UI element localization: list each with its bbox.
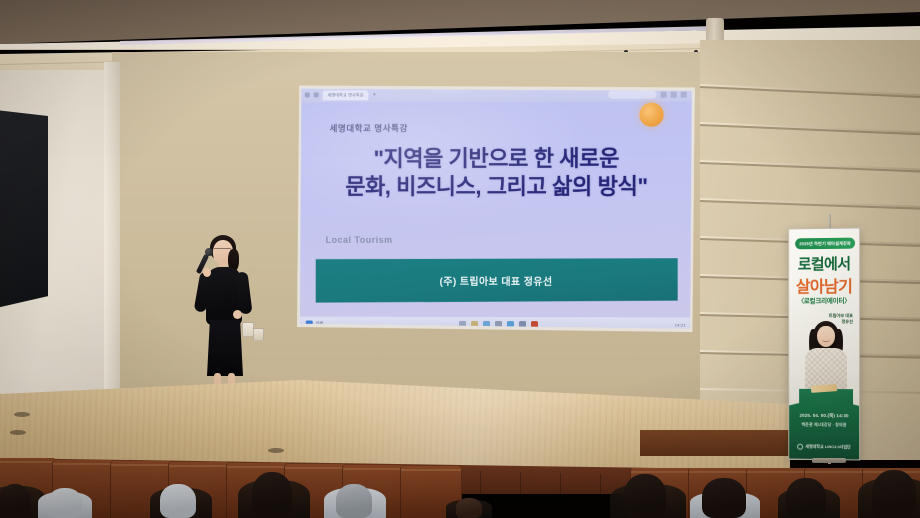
slide-headline: "지역을 기반으로 한 새로운 문화, 비즈니스, 그리고 삶의 방식" (318, 145, 676, 201)
projection-screen: 세명대학교 명사특강 + 세명대학교 명사특강 "지역을 기반으로 한 새로운 … (297, 83, 695, 334)
banner-line-2: 살아남기 (789, 273, 859, 297)
new-tab-icon[interactable]: + (373, 92, 376, 98)
banner-date: 2025. 04. 00.(목) 14:30 (789, 413, 859, 420)
event-banner: 2025년 하반기 메타설계강좌 로컬에서 살아남기 〈로컬크리에이터〉 트립아… (788, 228, 860, 461)
browser-tab[interactable]: 세명대학교 명사특강 (323, 90, 369, 100)
audience-head (624, 474, 666, 518)
microphone-head (205, 248, 213, 256)
minimize-icon[interactable] (661, 91, 667, 97)
banner-pill: 2025년 하반기 메타설계강좌 (795, 238, 855, 250)
left-hand (203, 268, 211, 277)
audience-head (702, 478, 746, 518)
audience-head (336, 484, 372, 518)
banner-venue: 백운관 제1대강당 · 창의관 (789, 422, 859, 429)
banner-line-1: 로컬에서 (789, 253, 859, 275)
slide-caption: Local Tourism (326, 235, 393, 245)
headline-line-1: "지역을 기반으로 한 새로운 (318, 145, 676, 173)
close-icon[interactable] (681, 91, 687, 97)
browser-forward-icon[interactable] (314, 92, 319, 97)
powerpoint-icon[interactable] (531, 321, 538, 328)
browser-back-icon[interactable] (305, 92, 310, 97)
audience-head (0, 484, 30, 518)
headline-line-2: 문화, 비즈니스, 그리고 삶의 방식" (318, 173, 676, 201)
dark-wall-panel (0, 110, 48, 308)
right-hand (233, 310, 242, 319)
maximize-icon[interactable] (671, 91, 677, 97)
sun-icon (639, 103, 663, 127)
audience-head (456, 498, 482, 518)
audience-head (872, 470, 916, 518)
audience-head (160, 484, 196, 518)
taskbar-clock[interactable]: 14:21 (675, 322, 686, 327)
front-audience-row (0, 442, 920, 518)
skirt (207, 320, 243, 376)
floor-socket (14, 412, 30, 417)
left-wall-edge (104, 62, 120, 407)
address-bar[interactable] (608, 90, 656, 98)
banner-line-3: 〈로컬크리에이터〉 (789, 295, 859, 305)
speaker-band: (주) 트립아보 대표 정유선 (316, 258, 678, 304)
audience-head (252, 472, 292, 518)
screen-surface: 세명대학교 명사특강 + 세명대학교 명사특강 "지역을 기반으로 한 새로운 … (300, 86, 692, 331)
lecture-hall-photo: 세명대학교 명사특강 + 세명대학교 명사특강 "지역을 기반으로 한 새로운 … (0, 0, 920, 518)
slide-kicker: 세명대학교 명사특강 (330, 122, 408, 134)
audience-head (786, 478, 826, 518)
speaker-band-label: (주) 트립아보 대표 정유선 (440, 273, 553, 288)
floor-socket (10, 430, 26, 435)
audience-head (48, 488, 82, 518)
